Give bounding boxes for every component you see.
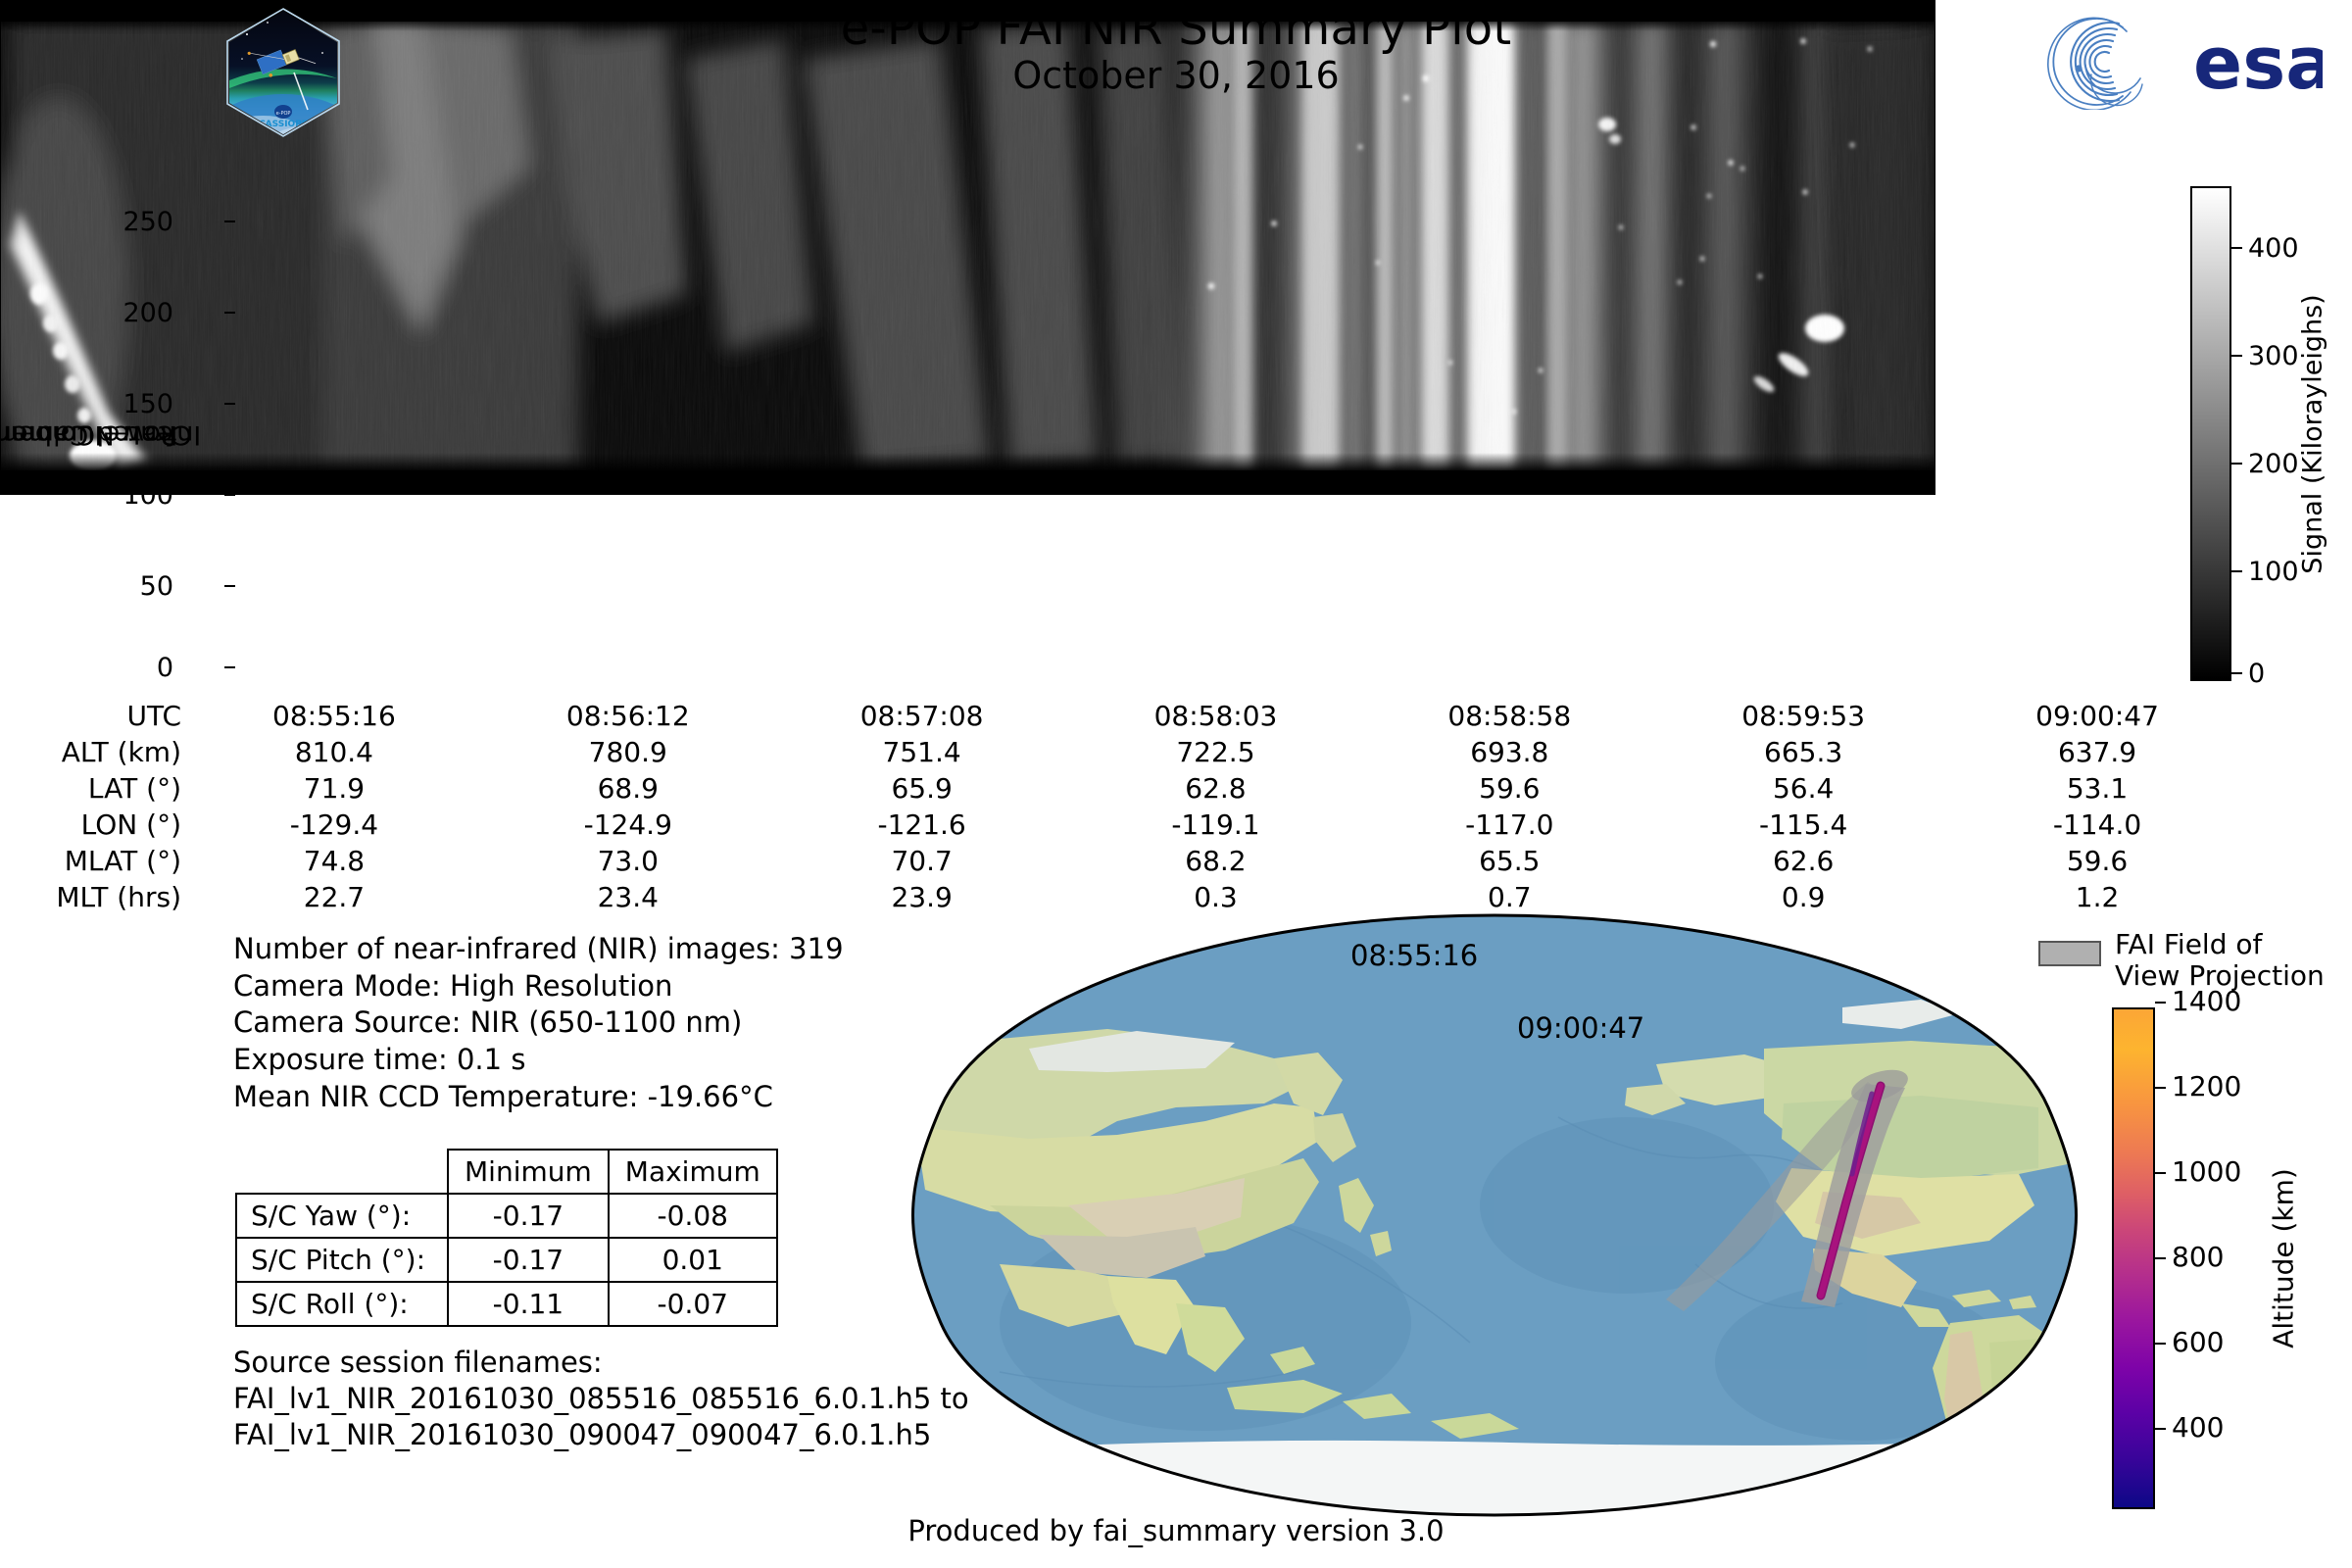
- table-row-mlt: MLT (hrs) 22.7 23.4 23.9 0.3 0.7 0.9 1.2: [0, 879, 2244, 915]
- sc-label-pitch: S/C Pitch (°):: [236, 1238, 448, 1282]
- lat-col-5: 59.6: [1362, 770, 1656, 807]
- lat-col-4: 62.8: [1069, 770, 1363, 807]
- esa-logo: esa: [2046, 14, 2323, 110]
- keogram-ytick-mark-100: [224, 494, 235, 496]
- lat-col-6: 56.4: [1656, 770, 1950, 807]
- table-row-alt: ALT (km) 810.4 780.9 751.4 722.5 693.8 6…: [0, 734, 2244, 770]
- mlat-col-1: 74.8: [187, 843, 481, 879]
- row-label-utc: UTC: [0, 698, 187, 734]
- keogram-ytick-100: 100: [56, 480, 173, 511]
- fov-legend: FAI Field of View Projection: [2038, 929, 2325, 993]
- mlt-col-5: 0.7: [1362, 879, 1656, 915]
- mlat-col-7: 59.6: [1950, 843, 2244, 879]
- altitude-cb-label-1000: 1000: [2172, 1155, 2241, 1188]
- altitude-cb-tick-400: [2155, 1428, 2166, 1430]
- sc-header-blank: [236, 1150, 448, 1194]
- altitude-cb-label-1400: 1400: [2172, 985, 2241, 1017]
- altitude-cb-label-800: 800: [2172, 1241, 2224, 1273]
- utc-col-7: 09:00:47: [1950, 698, 2244, 734]
- row-label-lat: LAT (°): [0, 770, 187, 807]
- lon-col-1: -129.4: [187, 807, 481, 843]
- signal-colorbar: [2190, 186, 2231, 681]
- fov-legend-text: FAI Field of View Projection: [2115, 929, 2325, 993]
- footer-credit: Produced by fai_summary version 3.0: [0, 1514, 2352, 1547]
- altitude-cb-tick-600: [2155, 1343, 2166, 1345]
- lon-col-4: -119.1: [1069, 807, 1363, 843]
- row-label-mlt: MLT (hrs): [0, 879, 187, 915]
- filenames-heading: Source session filenames:: [233, 1345, 969, 1381]
- session-info-block: Number of near-infrared (NIR) images: 31…: [233, 931, 844, 1115]
- lon-col-3: -121.6: [775, 807, 1069, 843]
- lat-col-1: 71.9: [187, 770, 481, 807]
- table-row-mlat: MLAT (°) 74.8 73.0 70.7 68.2 65.5 62.6 5…: [0, 843, 2244, 879]
- signal-colorbar-title: Signal (Kilorayleighs): [2283, 186, 2342, 681]
- svg-text:e-POP: e-POP: [276, 111, 291, 117]
- mlat-col-3: 70.7: [775, 843, 1069, 879]
- alt-col-3: 751.4: [775, 734, 1069, 770]
- sc-pitch-min: -0.17: [448, 1238, 609, 1282]
- keogram-ytick-250: 250: [56, 207, 173, 237]
- utc-col-6: 08:59:53: [1656, 698, 1950, 734]
- ground-track-end-label: 09:00:47: [1517, 1011, 1644, 1045]
- altitude-cb-tick-1400: [2155, 1002, 2166, 1004]
- ylabel-line-3: Row Number: [8, 418, 177, 448]
- signal-cb-tick-300: [2231, 355, 2242, 357]
- world-map: [882, 911, 2107, 1519]
- cassiope-logo-caption: CASSIOPE: [259, 120, 308, 129]
- mlat-col-5: 65.5: [1362, 843, 1656, 879]
- source-filenames-block: Source session filenames: FAI_lv1_NIR_20…: [233, 1345, 969, 1453]
- ephemeris-table: UTC 08:55:16 08:56:12 08:57:08 08:58:03 …: [0, 698, 2244, 915]
- sc-table-row-roll: S/C Roll (°): -0.11 -0.07: [236, 1282, 777, 1326]
- sc-yaw-min: -0.17: [448, 1194, 609, 1238]
- keogram-y-axis-label: Infrared Camera Centre Column Row Number: [34, 186, 152, 681]
- signal-cb-tick-100: [2231, 570, 2242, 572]
- sc-table-row-pitch: S/C Pitch (°): -0.17 0.01: [236, 1238, 777, 1282]
- altitude-cb-label-600: 600: [2172, 1326, 2224, 1358]
- signal-cb-label-0: 0: [2248, 659, 2265, 689]
- sc-label-yaw: S/C Yaw (°):: [236, 1194, 448, 1238]
- mlt-col-7: 1.2: [1950, 879, 2244, 915]
- altitude-cb-tick-800: [2155, 1257, 2166, 1259]
- keogram-ytick-mark-50: [224, 585, 235, 587]
- lat-col-2: 68.9: [481, 770, 775, 807]
- sc-pitch-max: 0.01: [609, 1238, 777, 1282]
- mlat-col-4: 68.2: [1069, 843, 1363, 879]
- alt-col-4: 722.5: [1069, 734, 1363, 770]
- utc-col-1: 08:55:16: [187, 698, 481, 734]
- mlt-col-1: 22.7: [187, 879, 481, 915]
- filename-start: FAI_lv1_NIR_20161030_085516_085516_6.0.1…: [233, 1381, 969, 1417]
- info-num-images: Number of near-infrared (NIR) images: 31…: [233, 931, 844, 968]
- sc-label-roll: S/C Roll (°):: [236, 1282, 448, 1326]
- spacecraft-attitude-table: Minimum Maximum S/C Yaw (°): -0.17 -0.08…: [235, 1149, 778, 1327]
- alt-col-1: 810.4: [187, 734, 481, 770]
- keogram-ytick-150: 150: [56, 389, 173, 419]
- fov-legend-line-1: FAI Field of: [2115, 929, 2325, 960]
- keogram-ytick-50: 50: [56, 571, 173, 602]
- fov-legend-swatch: [2038, 941, 2101, 966]
- lon-col-7: -114.0: [1950, 807, 2244, 843]
- sc-header-maximum: Maximum: [609, 1150, 777, 1194]
- mlt-col-3: 23.9: [775, 879, 1069, 915]
- mlat-col-2: 73.0: [481, 843, 775, 879]
- keogram-ytick-200: 200: [56, 298, 173, 328]
- signal-cb-tick-0: [2231, 672, 2242, 674]
- table-row-lat: LAT (°) 71.9 68.9 65.9 62.8 59.6 56.4 53…: [0, 770, 2244, 807]
- altitude-colorbar-title-text: Altitude (km): [2268, 1168, 2300, 1348]
- mlt-col-6: 0.9: [1656, 879, 1950, 915]
- mlat-col-6: 62.6: [1656, 843, 1950, 879]
- altitude-cb-tick-1000: [2155, 1172, 2166, 1174]
- info-exposure-time: Exposure time: 0.1 s: [233, 1042, 844, 1079]
- sc-header-minimum: Minimum: [448, 1150, 609, 1194]
- altitude-cb-label-1200: 1200: [2172, 1070, 2241, 1102]
- table-row-utc: UTC 08:55:16 08:56:12 08:57:08 08:58:03 …: [0, 698, 2244, 734]
- alt-col-7: 637.9: [1950, 734, 2244, 770]
- utc-col-4: 08:58:03: [1069, 698, 1363, 734]
- utc-col-5: 08:58:58: [1362, 698, 1656, 734]
- keogram-ytick-0: 0: [56, 653, 173, 683]
- altitude-colorbar: [2112, 1007, 2155, 1509]
- lon-col-2: -124.9: [481, 807, 775, 843]
- esa-logo-text: esa: [2193, 22, 2323, 106]
- alt-col-6: 665.3: [1656, 734, 1950, 770]
- mlt-col-2: 23.4: [481, 879, 775, 915]
- alt-col-5: 693.8: [1362, 734, 1656, 770]
- signal-cb-tick-400: [2231, 247, 2242, 249]
- sc-roll-min: -0.11: [448, 1282, 609, 1326]
- lat-col-7: 53.1: [1950, 770, 2244, 807]
- row-label-mlat: MLAT (°): [0, 843, 187, 879]
- keogram-ytick-mark-250: [224, 220, 235, 222]
- keogram-ytick-mark-0: [224, 666, 235, 668]
- utc-col-3: 08:57:08: [775, 698, 1069, 734]
- sc-yaw-max: -0.08: [609, 1194, 777, 1238]
- lon-col-6: -115.4: [1656, 807, 1950, 843]
- row-label-alt: ALT (km): [0, 734, 187, 770]
- cassiope-logo: e-POP CASSIOPE: [223, 8, 343, 137]
- altitude-cb-label-400: 400: [2172, 1411, 2224, 1444]
- filename-end: FAI_lv1_NIR_20161030_090047_090047_6.0.1…: [233, 1417, 969, 1453]
- lon-col-5: -117.0: [1362, 807, 1656, 843]
- utc-col-2: 08:56:12: [481, 698, 775, 734]
- sc-table-header-row: Minimum Maximum: [236, 1150, 777, 1194]
- keogram-ytick-mark-150: [224, 403, 235, 405]
- info-ccd-temperature: Mean NIR CCD Temperature: -19.66°C: [233, 1079, 844, 1116]
- mlt-col-4: 0.3: [1069, 879, 1363, 915]
- signal-colorbar-title-text: Signal (Kilorayleighs): [2298, 294, 2328, 573]
- sc-table-row-yaw: S/C Yaw (°): -0.17 -0.08: [236, 1194, 777, 1238]
- row-label-lon: LON (°): [0, 807, 187, 843]
- keogram-ytick-mark-200: [224, 312, 235, 314]
- table-row-lon: LON (°) -129.4 -124.9 -121.6 -119.1 -117…: [0, 807, 2244, 843]
- altitude-colorbar-title: Altitude (km): [2254, 1007, 2313, 1509]
- alt-col-2: 780.9: [481, 734, 775, 770]
- altitude-cb-tick-1200: [2155, 1087, 2166, 1089]
- lat-col-3: 65.9: [775, 770, 1069, 807]
- info-camera-mode: Camera Mode: High Resolution: [233, 968, 844, 1005]
- sc-roll-max: -0.07: [609, 1282, 777, 1326]
- ground-track-start-label: 08:55:16: [1350, 939, 1478, 972]
- signal-cb-tick-200: [2231, 463, 2242, 465]
- info-camera-source: Camera Source: NIR (650-1100 nm): [233, 1004, 844, 1042]
